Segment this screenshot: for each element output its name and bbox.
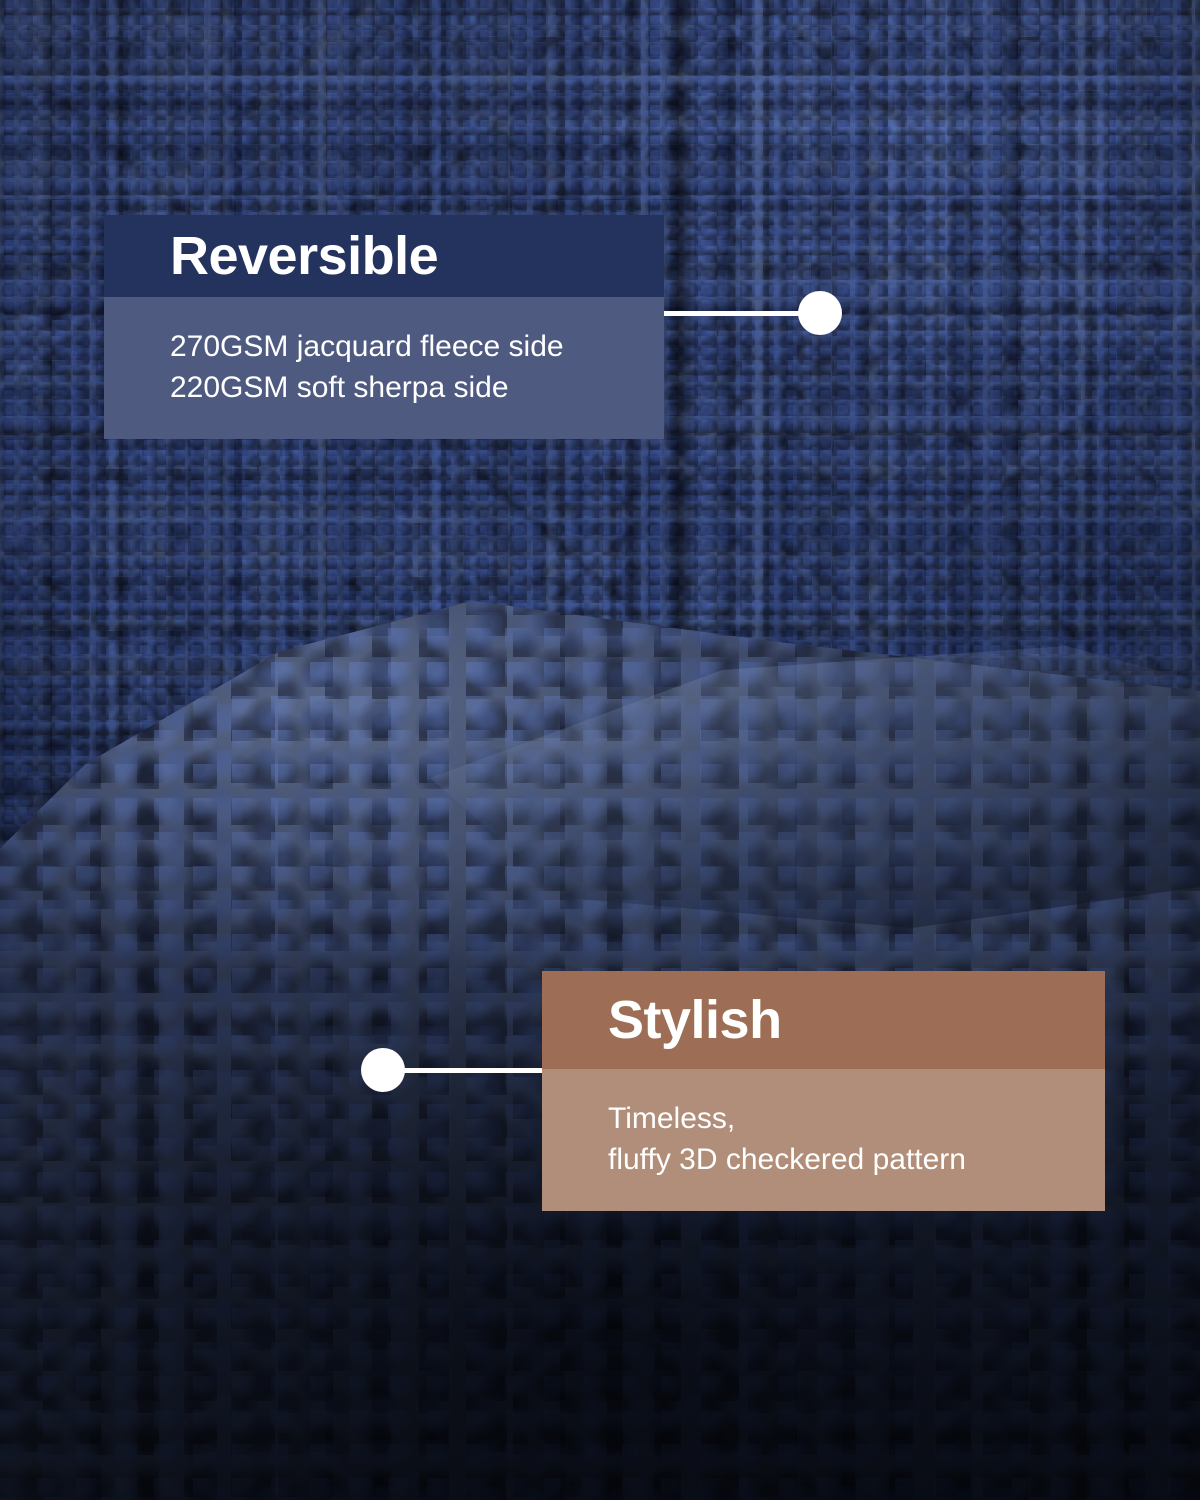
callout-stylish-title: Stylish — [542, 971, 1105, 1069]
callout-reversible-title: Reversible — [104, 215, 664, 297]
callout-stylish-line-2: fluffy 3D checkered pattern — [608, 1140, 1105, 1181]
leader-dot-stylish — [361, 1048, 405, 1092]
callout-reversible-body: 270GSM jacquard fleece side 220GSM soft … — [104, 297, 664, 439]
callout-stylish: Stylish Timeless, fluffy 3D checkered pa… — [542, 971, 1105, 1211]
leader-dot-reversible — [798, 291, 842, 335]
callout-reversible-line-1: 270GSM jacquard fleece side — [170, 327, 664, 368]
callout-stylish-body: Timeless, fluffy 3D checkered pattern — [542, 1069, 1105, 1211]
product-feature-image: Reversible 270GSM jacquard fleece side 2… — [0, 0, 1200, 1500]
leader-line-stylish — [383, 1068, 543, 1073]
callout-reversible-line-2: 220GSM soft sherpa side — [170, 368, 664, 409]
callout-stylish-line-1: Timeless, — [608, 1099, 1105, 1140]
callout-reversible: Reversible 270GSM jacquard fleece side 2… — [104, 215, 664, 439]
